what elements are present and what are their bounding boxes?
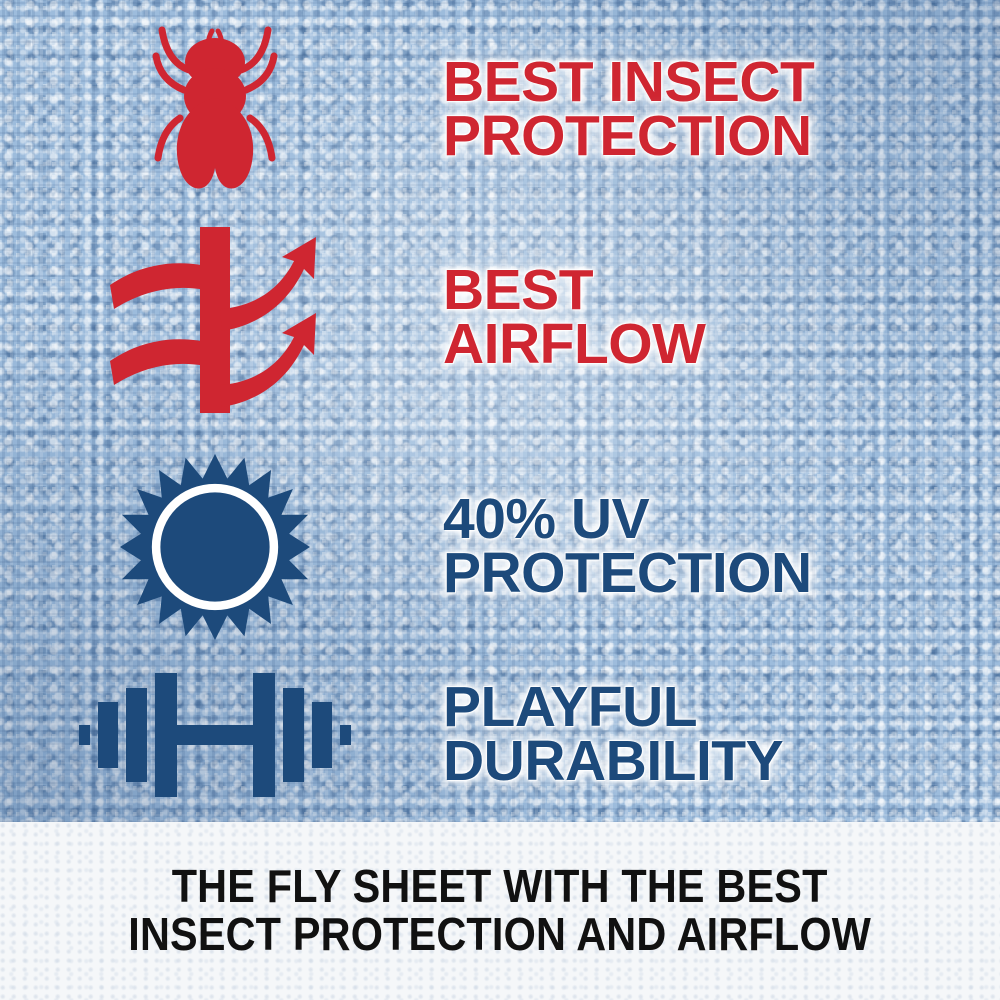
sun-icon	[117, 452, 313, 642]
airflow-through-barrier-icon	[104, 223, 326, 413]
poster-root: BEST INSECT PROTECTION	[0, 0, 1000, 1000]
caption-band: THE FLY SHEET WITH THE BEST INSECT PROTE…	[0, 822, 1000, 1000]
feature-text-cell: BEST INSECT PROTECTION	[430, 56, 1000, 163]
feature-icon-cell	[0, 18, 430, 203]
feature-label-uv-protection: 40% UV PROTECTION	[443, 493, 1000, 600]
feature-label-durability: PLAYFUL DURABILITY	[443, 681, 1000, 788]
feature-row-airflow: BEST AIRFLOW	[0, 218, 1000, 418]
feature-text-cell: PLAYFUL DURABILITY	[430, 681, 1000, 788]
feature-label-insect-protection: BEST INSECT PROTECTION	[443, 56, 1000, 163]
feature-row-insect-protection: BEST INSECT PROTECTION	[0, 10, 1000, 210]
caption-text: THE FLY SHEET WITH THE BEST INSECT PROTE…	[129, 863, 872, 959]
feature-row-uv-protection: 40% UV PROTECTION	[0, 442, 1000, 652]
dumbbell-icon	[79, 669, 351, 801]
feature-list: BEST INSECT PROTECTION	[0, 0, 1000, 822]
feature-text-cell: 40% UV PROTECTION	[430, 493, 1000, 600]
feature-icon-cell	[0, 669, 430, 801]
feature-row-durability: PLAYFUL DURABILITY	[0, 655, 1000, 815]
feature-icon-cell	[0, 223, 430, 413]
feature-text-cell: BEST AIRFLOW	[430, 264, 1000, 371]
feature-label-airflow: BEST AIRFLOW	[443, 264, 1000, 371]
feature-icon-cell	[0, 452, 430, 642]
fly-icon	[140, 18, 290, 203]
